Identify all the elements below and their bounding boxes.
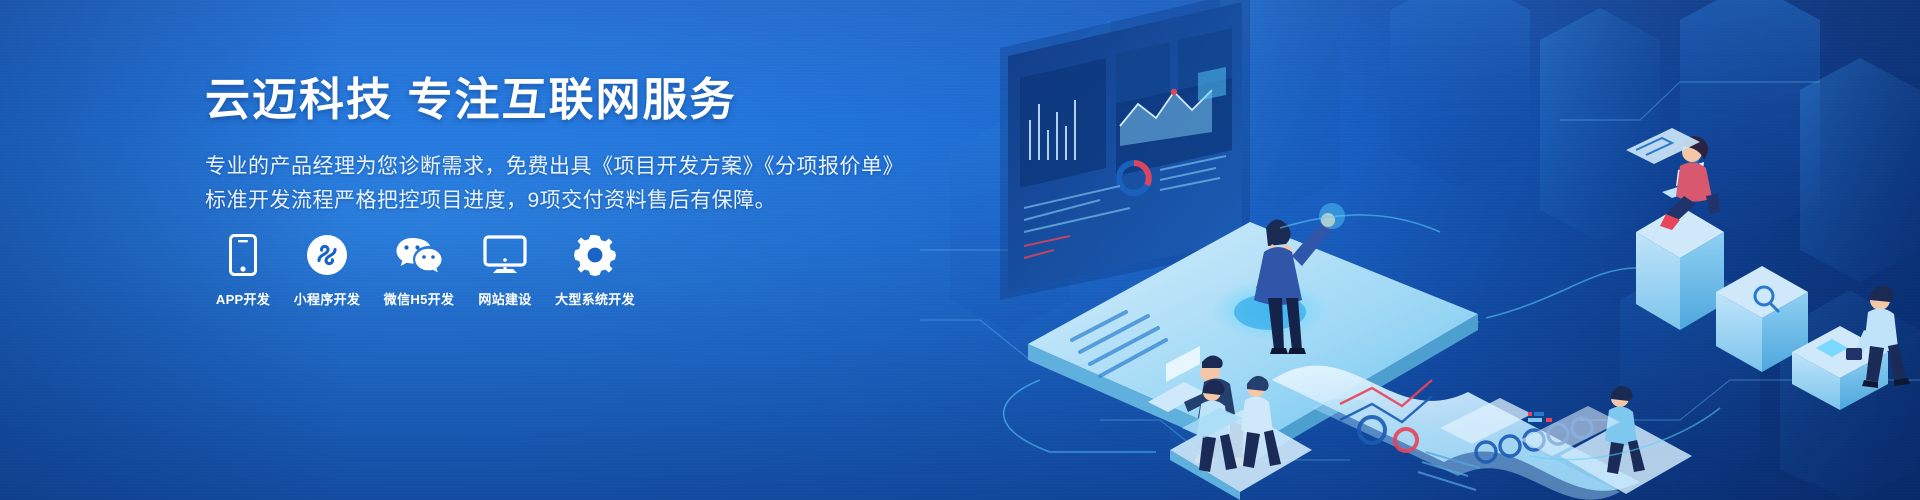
gear-icon <box>574 232 616 278</box>
service-label: 大型系统开发 <box>555 289 635 308</box>
pedestal-cubes <box>1636 206 1888 410</box>
monitor-icon <box>483 232 527 278</box>
hero-subtitle-line-2: 标准开发流程严格把控项目进度，9项交付资料售后有保障。 <box>205 184 1105 218</box>
service-item-large-system[interactable]: 大型系统开发 <box>545 232 645 308</box>
mini-program-icon <box>306 232 348 278</box>
hero-banner: 云迈科技 专注互联网服务 专业的产品经理为您诊断需求，免费出具《项目开发方案》《… <box>0 0 1920 500</box>
service-label: APP开发 <box>216 289 270 308</box>
service-item-app[interactable]: APP开发 <box>205 232 281 308</box>
service-item-wechat-h5[interactable]: 微信H5开发 <box>373 232 465 308</box>
service-item-mini-program[interactable]: 小程序开发 <box>281 232 373 308</box>
service-label: 网站建设 <box>478 289 531 308</box>
hero-copy: 云迈科技 专注互联网服务 专业的产品经理为您诊断需求，免费出具《项目开发方案》《… <box>205 72 1105 218</box>
service-label: 微信H5开发 <box>384 289 454 308</box>
service-item-website[interactable]: 网站建设 <box>465 232 545 308</box>
service-list: APP开发 小程序开发 <box>205 232 645 308</box>
page-title: 云迈科技 专注互联网服务 <box>205 72 1105 128</box>
hero-subtitle-line-1: 专业的产品经理为您诊断需求，免费出具《项目开发方案》《分项报价单》 <box>205 150 1105 184</box>
service-label: 小程序开发 <box>294 289 361 308</box>
wechat-icon <box>395 232 443 278</box>
mobile-phone-icon <box>229 232 257 278</box>
